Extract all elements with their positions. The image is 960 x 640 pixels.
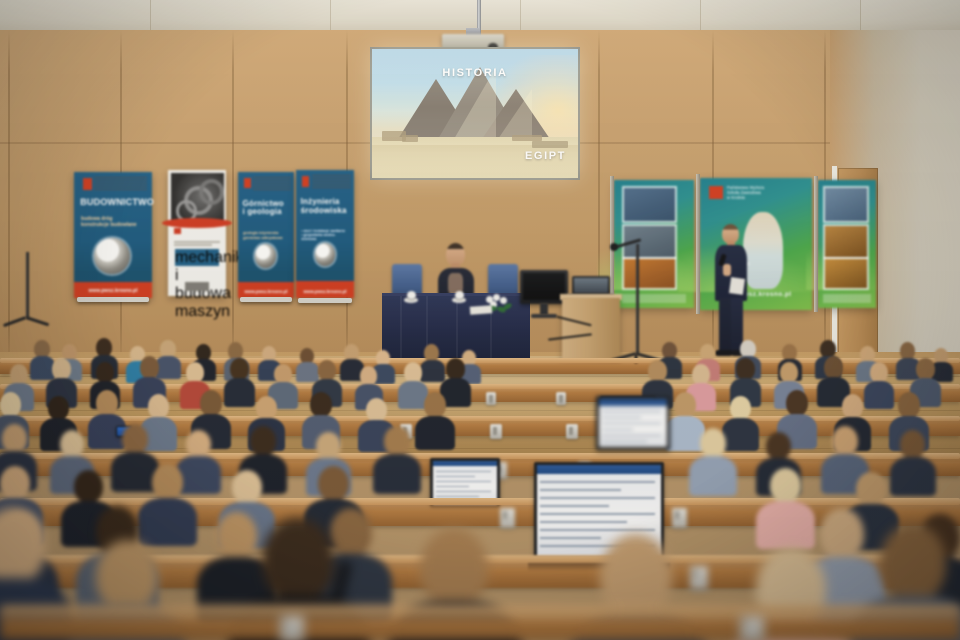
coffee-cup-left [407, 291, 416, 299]
seat-hardware [556, 392, 566, 405]
banner-base [240, 297, 292, 302]
seat-hardware [672, 508, 687, 528]
seat-hardware [690, 566, 708, 590]
institution-text-block [94, 177, 147, 191]
pwsz-logo-icon [174, 228, 181, 234]
seat-hardware [566, 424, 578, 439]
pyramid-right-lit-face [498, 89, 532, 139]
seat-hardware [740, 616, 764, 640]
seat-hardware [500, 508, 515, 528]
banner-base [298, 298, 352, 303]
banner-pole [814, 176, 818, 312]
banner-title: BUDOWNICTWO [80, 198, 147, 208]
banner-emblem [315, 243, 336, 266]
banner-url [185, 282, 208, 291]
pwsz-logo-icon [83, 178, 92, 189]
banner-url: www.pwsz.krosno.pl [296, 289, 354, 294]
banner-subtitle: mechanika i budowa maszyn [175, 249, 219, 265]
banner-subtitle: geologia inżynierska górnictwo odkrywkow… [243, 231, 290, 240]
slide-title: HISTORIA [372, 67, 578, 79]
banner-photo [624, 188, 675, 221]
bench-row-7 [0, 612, 960, 640]
ruin-block-d [532, 141, 568, 148]
banner-pwsz-right [818, 180, 876, 308]
coffee-cup-right [455, 291, 464, 299]
slide-subject: EGIPT [525, 150, 566, 162]
banner-url: www.pwsz.krosno.pl [238, 289, 294, 294]
banner-inzynieria: Inżynieria środowiska • sieci i instalac… [296, 170, 354, 298]
lectern-laptop[interactable] [572, 276, 610, 296]
banner-photo [825, 259, 867, 287]
banner-base [77, 297, 149, 302]
banner-subtitle: budowa dróg konstrukcje budowlane [81, 216, 146, 229]
lecture-hall-photo: HISTORIA EGIPT BUDOWNICTWO budowa dróg k… [0, 0, 960, 640]
notes-paper [729, 277, 745, 295]
banner-red-arc [162, 218, 232, 228]
banner-person-photo [743, 212, 783, 289]
banner-pole [696, 174, 700, 314]
banner-footer [622, 294, 686, 303]
banner-title: Inżynieria środowiska [301, 198, 351, 215]
banner-photo [825, 226, 867, 257]
microphone-head-icon [610, 243, 618, 251]
microphone-stand-left [26, 252, 29, 318]
seat-hardware [486, 392, 496, 405]
microphone-stand-right [636, 244, 639, 354]
banner-footer [823, 294, 872, 303]
banner-emblem [94, 238, 130, 275]
banner-photo [624, 259, 675, 287]
projection-screen: HISTORIA EGIPT [372, 49, 578, 178]
banner-title: Górnictwo i geologia [242, 200, 290, 217]
banner-url: www.pwsz.krosno.pl [74, 288, 152, 294]
seat-hardware [280, 616, 304, 640]
banner-emblem [255, 244, 276, 268]
banner-photo [825, 188, 867, 221]
lectern [562, 298, 620, 364]
banner-institution: Państwowa Wyższa Szkoła Zawodowa w Krośn… [727, 186, 764, 200]
seat-hardware [490, 424, 502, 439]
trousers-left [719, 298, 731, 352]
ruin-block-b [402, 135, 418, 142]
banner-gornictwo: Górnictwo i geologia geologia inżyniersk… [238, 172, 294, 298]
pwsz-logo-icon [709, 186, 723, 199]
banner-subtitle: • sieci i instalacje sanitarne • gospoda… [301, 229, 349, 242]
hand [723, 264, 731, 276]
banner-budownictwo: BUDOWNICTWO budowa dróg konstrukcje budo… [74, 172, 152, 298]
paper-sheet [470, 305, 493, 315]
banner-mechanika: mechanika i budowa maszyn [168, 170, 226, 296]
audience-laptop-4[interactable] [596, 396, 670, 450]
